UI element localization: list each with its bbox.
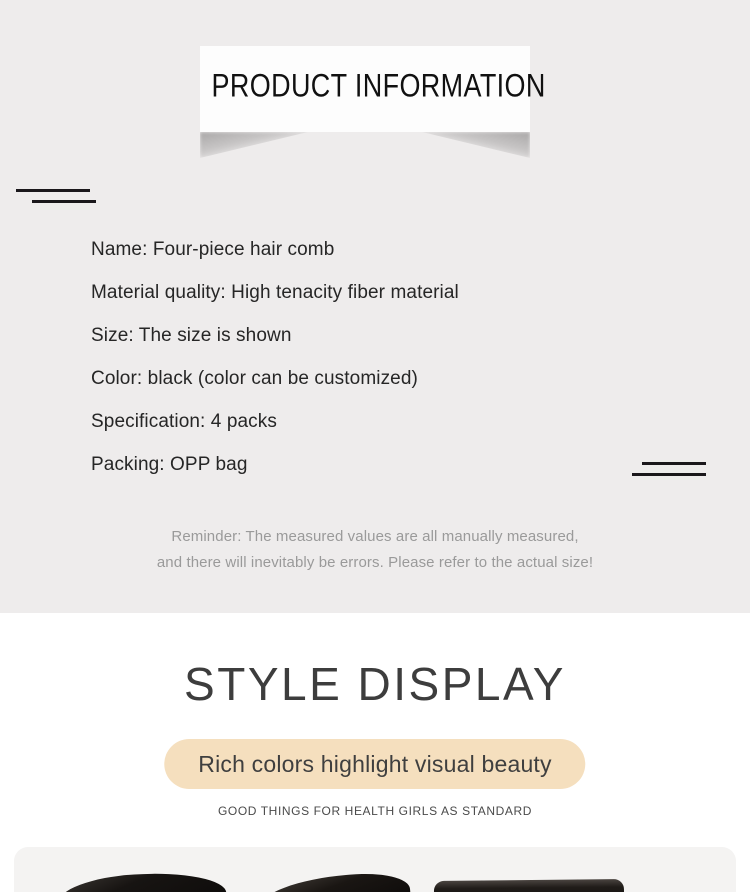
reminder-line-2: and there will inevitably be errors. Ple…: [0, 550, 750, 576]
product-photo-panel: [14, 847, 736, 892]
product-information-banner: PRODUCT INFORMATION: [200, 46, 530, 132]
product-spec-list: Name: Four-piece hair comb Material qual…: [91, 228, 459, 486]
style-display-badge: Rich colors highlight visual beauty: [164, 739, 585, 789]
banner-title: PRODUCT INFORMATION: [212, 69, 519, 106]
banner-fold-right-icon: [422, 132, 530, 158]
product-information-section: PRODUCT INFORMATION Name: Four-piece hai…: [0, 0, 750, 613]
list-item: Color: black (color can be customized): [91, 357, 459, 400]
product-comb-image-2: [259, 870, 411, 892]
decorative-rule-right: [632, 462, 722, 476]
style-display-heading: STYLE DISPLAY: [0, 657, 750, 711]
style-display-badge-label: Rich colors highlight visual beauty: [198, 751, 551, 778]
style-display-section: STYLE DISPLAY Rich colors highlight visu…: [0, 613, 750, 892]
banner-fold-left-icon: [200, 132, 308, 158]
list-item: Name: Four-piece hair comb: [91, 228, 459, 271]
banner-plate: PRODUCT INFORMATION: [200, 46, 530, 132]
rule-bar-lower: [632, 473, 706, 476]
style-display-caption: GOOD THINGS FOR HEALTH GIRLS AS STANDARD: [0, 804, 750, 818]
decorative-rule-left: [16, 189, 106, 203]
rule-bar-lower: [32, 200, 96, 203]
list-item: Specification: 4 packs: [91, 400, 459, 443]
list-item: Material quality: High tenacity fiber ma…: [91, 271, 459, 314]
product-comb-image-1: [57, 869, 227, 892]
reminder-line-1: Reminder: The measured values are all ma…: [0, 524, 750, 550]
list-item: Size: The size is shown: [91, 314, 459, 357]
measurement-reminder: Reminder: The measured values are all ma…: [0, 524, 750, 576]
rule-bar-upper: [16, 189, 90, 192]
rule-bar-upper: [642, 462, 706, 465]
product-comb-image-3: [434, 879, 624, 892]
list-item: Packing: OPP bag: [91, 443, 459, 486]
